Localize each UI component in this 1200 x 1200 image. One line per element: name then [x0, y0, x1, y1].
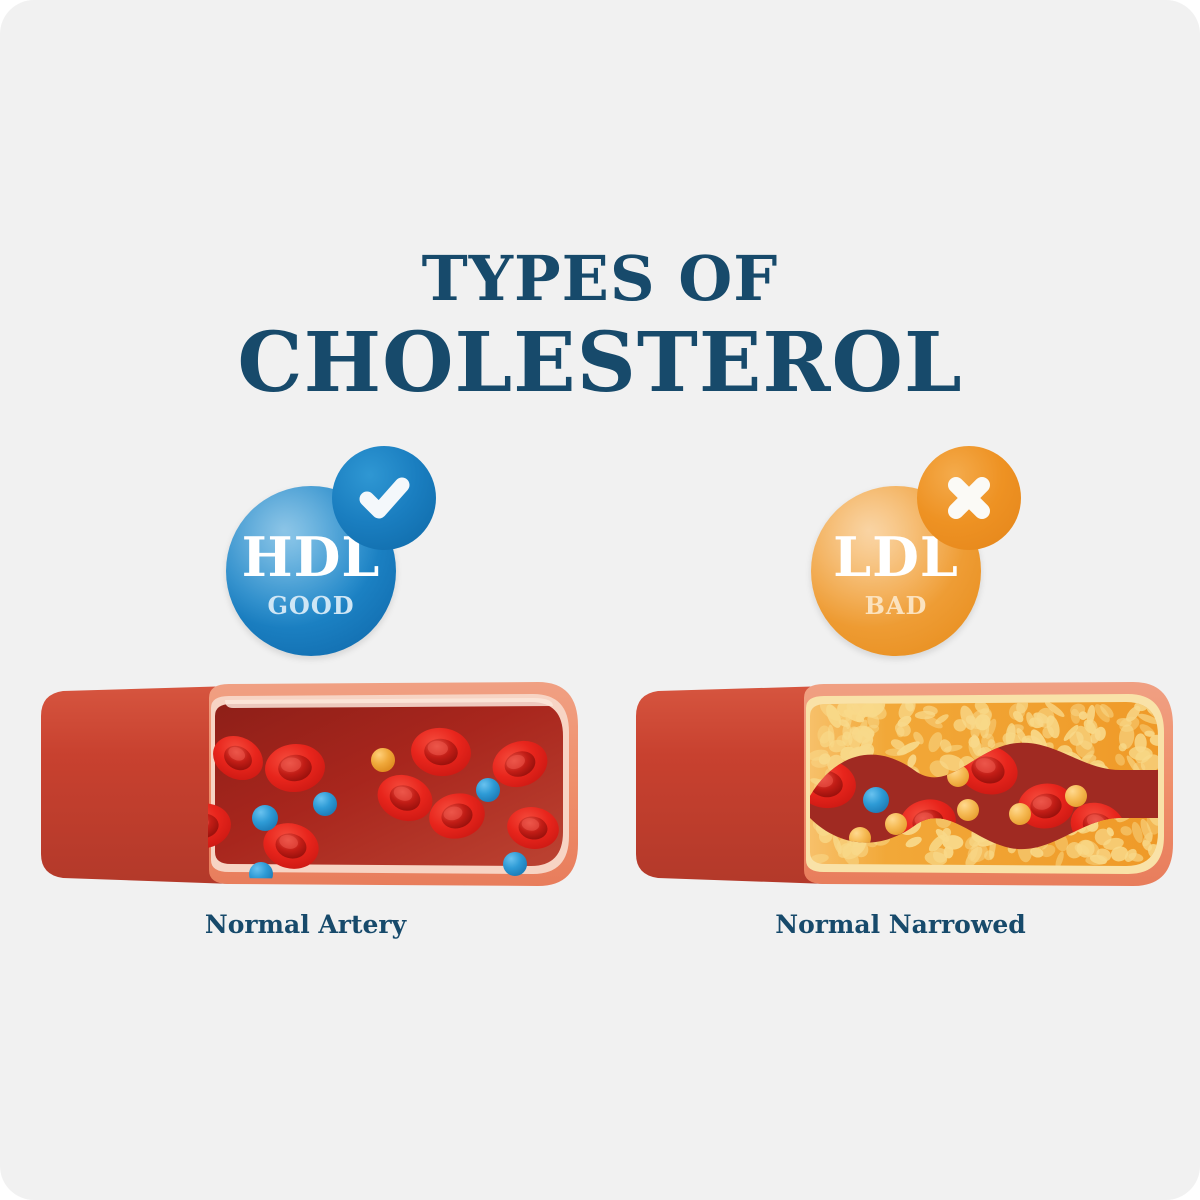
page-title: TYPES OF CHOLESTEROL — [0, 248, 1200, 408]
ldl-sublabel: BAD — [865, 594, 928, 618]
hdl-sublabel: GOOD — [267, 594, 354, 618]
hdl-particle — [476, 778, 500, 802]
title-line-2: CHOLESTEROL — [0, 318, 1200, 408]
ldl-particle — [885, 813, 907, 835]
hdl-particle — [863, 787, 889, 813]
ldl-particle — [957, 799, 979, 821]
narrowed-artery-illustration — [628, 678, 1173, 893]
cross-icon — [917, 446, 1021, 550]
ldl-particle — [1009, 803, 1031, 825]
narrowed-artery-caption: Normal Narrowed — [628, 910, 1173, 939]
normal-artery-caption: Normal Artery — [33, 910, 578, 939]
infographic-canvas: TYPES OF CHOLESTEROL HDL GOOD LDL BAD — [0, 0, 1200, 1200]
plaque-speckle — [944, 846, 954, 858]
title-line-1: TYPES OF — [0, 248, 1200, 310]
hdl-badge: HDL GOOD — [226, 446, 436, 656]
hdl-particle — [313, 792, 337, 816]
normal-artery-illustration — [33, 678, 578, 893]
hdl-particle-group — [863, 787, 889, 813]
hdl-particle — [252, 805, 278, 831]
check-icon — [332, 446, 436, 550]
ldl-particle — [371, 748, 395, 772]
hdl-particle — [503, 852, 527, 876]
artery-outer-tube — [41, 686, 233, 884]
artery-outer-tube — [636, 686, 828, 884]
ldl-badge: LDL BAD — [811, 446, 1021, 656]
ldl-particle — [1065, 785, 1087, 807]
